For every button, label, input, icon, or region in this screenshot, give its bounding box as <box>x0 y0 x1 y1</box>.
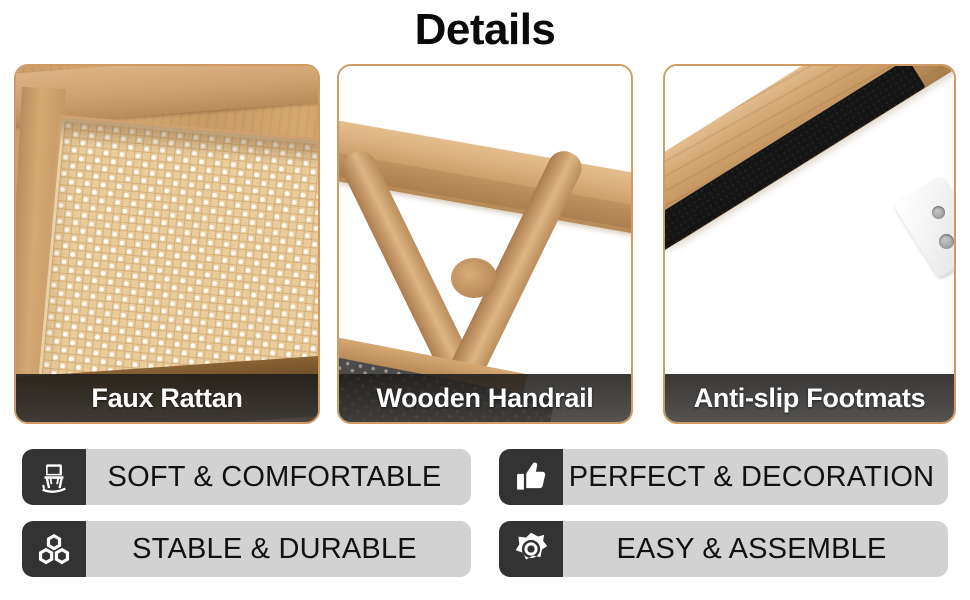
panel-caption: Anti-slip Footmats <box>665 374 954 422</box>
detail-panel-anti-slip-footmats[interactable]: Anti-slip Footmats <box>663 64 956 424</box>
faux-rattan-photo <box>16 66 318 422</box>
panel-caption: Wooden Handrail <box>339 374 631 422</box>
panel-caption-label: Wooden Handrail <box>376 383 593 414</box>
feature-badge-soft-comfortable[interactable]: SOFT & COMFORTABLE <box>22 449 471 505</box>
detail-panel-wooden-handrail[interactable]: Wooden Handrail <box>337 64 633 424</box>
gear-icon <box>499 521 563 577</box>
feature-badge-perfect-decoration[interactable]: PERFECT & DECORATION <box>499 449 948 505</box>
white-end-cap <box>893 176 954 279</box>
feature-badge-label: STABLE & DURABLE <box>86 521 471 577</box>
feature-badge-label: EASY & ASSEMBLE <box>563 521 948 577</box>
cap-hole-upper <box>932 206 945 219</box>
detail-panels: Faux Rattan Wooden Handrail <box>14 64 956 424</box>
product-details-page: Details Faux Rattan <box>0 0 970 600</box>
cross-joint <box>451 258 497 298</box>
feature-badge-label: SOFT & COMFORTABLE <box>86 449 471 505</box>
thumbs-up-icon <box>499 449 563 505</box>
panel-caption-label: Faux Rattan <box>91 383 242 414</box>
cap-hole-lower <box>939 234 954 249</box>
feature-badge-grid: SOFT & COMFORTABLE PERFECT & DECORATION … <box>22 449 948 577</box>
feature-badge-label: PERFECT & DECORATION <box>563 449 948 505</box>
anti-slip-footmat-photo <box>665 66 954 422</box>
feature-badge-stable-durable[interactable]: STABLE & DURABLE <box>22 521 471 577</box>
feature-badge-easy-assemble[interactable]: EASY & ASSEMBLE <box>499 521 948 577</box>
panel-caption: Faux Rattan <box>16 374 318 422</box>
wooden-handrail-photo <box>339 66 631 422</box>
panel-caption-label: Anti-slip Footmats <box>694 383 926 414</box>
hexagon-cluster-icon <box>22 521 86 577</box>
page-title: Details <box>0 2 970 58</box>
detail-panel-faux-rattan[interactable]: Faux Rattan <box>14 64 320 424</box>
rocking-chair-icon <box>22 449 86 505</box>
